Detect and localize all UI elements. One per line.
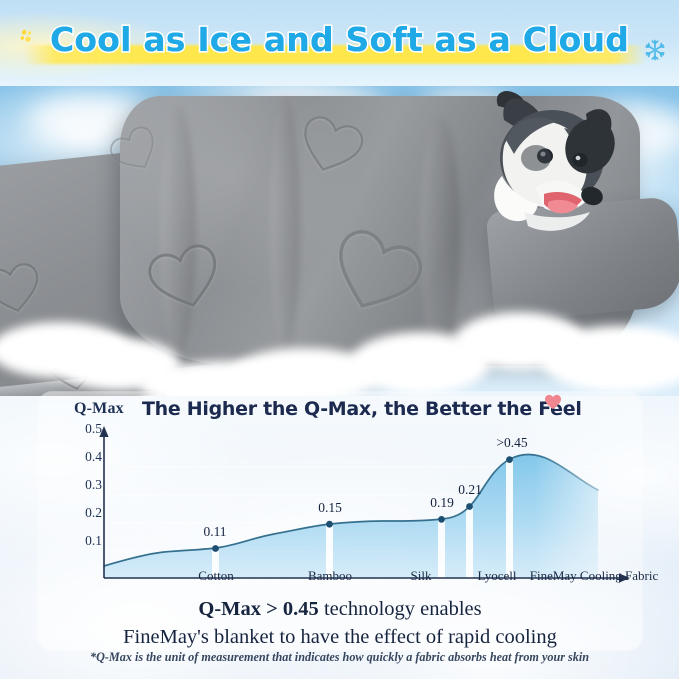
x-axis-labels: Cotton Bamboo Silk Lyocell FineMay Cooli… bbox=[38, 568, 642, 588]
tagline-strong: Q-Max > 0.45 bbox=[198, 598, 318, 620]
dog-illustration bbox=[440, 86, 660, 284]
x-label: Lyocell bbox=[478, 568, 517, 584]
page-title: Cool as Ice and Soft as a Cloud bbox=[0, 20, 679, 59]
tagline-line-1: Q-Max > 0.45 technology enables bbox=[38, 596, 642, 623]
y-axis-title: Q-Max bbox=[74, 400, 124, 418]
qmax-chart-card: Q-Max The Higher the Q-Max, the Better t… bbox=[38, 392, 642, 650]
tagline: Q-Max > 0.45 technology enables FineMay'… bbox=[38, 596, 642, 650]
x-label: FineMay Cooling Fabric bbox=[530, 568, 659, 584]
footnote: *Q-Max is the unit of measurement that i… bbox=[0, 650, 679, 665]
qmax-area-chart bbox=[38, 426, 642, 586]
chart-heading: The Higher the Q-Max, the Better the Fee… bbox=[142, 398, 582, 420]
product-photo bbox=[0, 86, 679, 396]
x-label: Bamboo bbox=[308, 568, 352, 584]
header-banner: Cool as Ice and Soft as a Cloud Cool as … bbox=[0, 0, 679, 88]
heart-icon bbox=[544, 394, 562, 410]
tagline-line-2: FineMay's blanket to have the effect of … bbox=[38, 624, 642, 651]
x-label: Silk bbox=[411, 568, 432, 584]
x-label: Cotton bbox=[198, 568, 233, 584]
product-infographic: Cool as Ice and Soft as a Cloud Cool as … bbox=[0, 0, 679, 679]
tagline-rest: technology enables bbox=[319, 598, 482, 620]
